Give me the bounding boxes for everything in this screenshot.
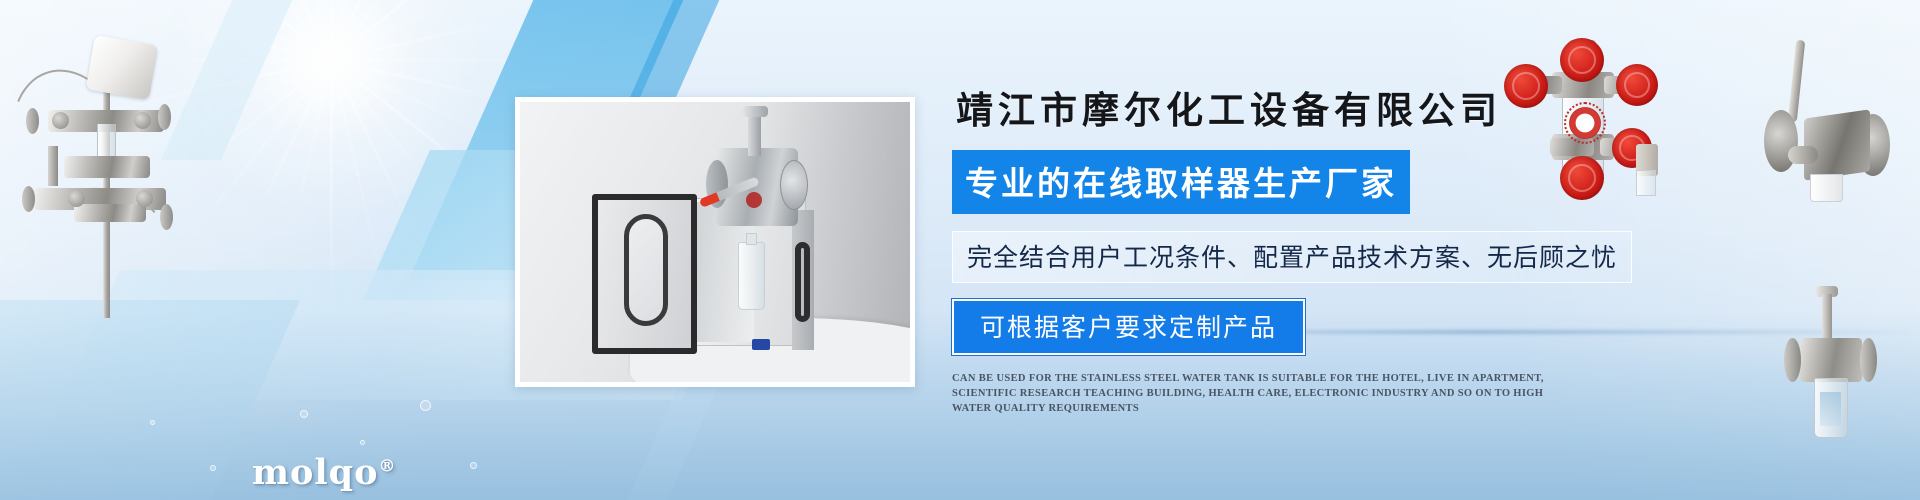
sample-bottle: [738, 242, 765, 310]
sample-bottle-neck: [746, 233, 757, 245]
handwheel-top-icon: [1560, 38, 1604, 82]
valve-top-nut: [742, 106, 768, 117]
valve-manifold-middle: [64, 156, 150, 178]
english-description: CAN BE USED FOR THE STAINLESS STEEL WATE…: [952, 371, 1582, 416]
water-droplet-icon: [360, 440, 365, 445]
water-droplet-icon: [420, 400, 431, 411]
blue-cap: [752, 339, 770, 350]
flange-right-upper: [158, 104, 171, 130]
custom-order-cta[interactable]: 可根据客户要求定制产品: [952, 299, 1305, 355]
water-droplet-icon: [300, 410, 308, 418]
left-product-illustration: [8, 28, 208, 318]
promo-banner: 靖江市摩尔化工设备有限公司 专业的在线取样器生产厂家 完全结合用户工况条件、配置…: [0, 0, 1920, 500]
flange-right-lower: [160, 204, 173, 230]
watermark-logo: molqo®: [252, 452, 397, 493]
relief-valve: [48, 146, 58, 186]
valve-body-bottom: [74, 204, 146, 222]
water-droplet-icon: [470, 462, 477, 469]
banner-text-block: 靖江市摩尔化工设备有限公司 专业的在线取样器生产厂家 完全结合用户工况条件、配置…: [952, 80, 1832, 416]
registered-mark-icon: ®: [379, 456, 397, 476]
company-name: 靖江市摩尔化工设备有限公司: [952, 80, 1832, 134]
flange-left-upper: [26, 108, 39, 134]
headline-badge: 专业的在线取样器生产厂家: [952, 150, 1410, 214]
water-droplet-icon: [210, 465, 216, 471]
subline-box: 完全结合用户工况条件、配置产品技术方案、无后顾之忧: [952, 231, 1632, 283]
handwheel-icon: [134, 112, 151, 129]
handwheel-icon: [52, 112, 69, 129]
handwheel-icon: [68, 190, 85, 207]
watermark-text: molqo: [252, 452, 379, 493]
water-droplet-icon: [150, 420, 155, 425]
valve-flange-right: [780, 160, 808, 210]
tee-flange-right: [1860, 338, 1877, 382]
handwheel-icon: [136, 190, 153, 207]
valve-stem: [748, 112, 761, 156]
brand-seal-icon: [746, 192, 762, 208]
flange-left-lower: [22, 186, 35, 212]
cabinet-handle: [795, 242, 810, 322]
cabinet-door-window: [624, 214, 668, 326]
center-product-photo[interactable]: [515, 97, 915, 387]
product-photo-image: [520, 102, 910, 382]
